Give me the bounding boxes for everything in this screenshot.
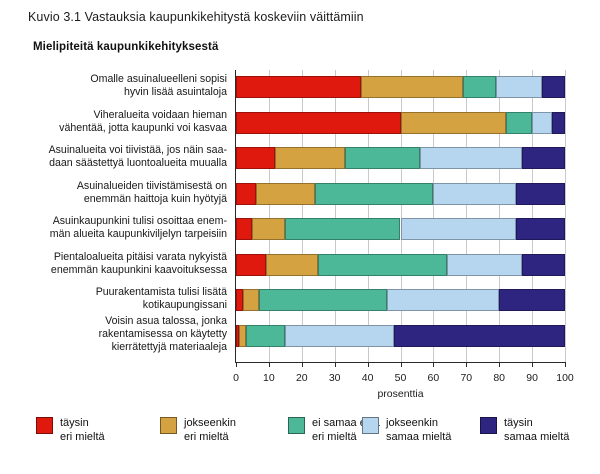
legend-label: täysin samaa mieltä — [504, 416, 569, 444]
bar-segment — [252, 218, 285, 240]
legend-item[interactable]: täysin eri mieltä — [36, 416, 105, 444]
category-label-line: Viheralueita voidaan hieman — [13, 109, 227, 122]
category-label-line: daan säästettyä luontoalueita muualla — [13, 157, 227, 170]
x-tick-label: 70 — [460, 372, 472, 384]
x-tick-label: 60 — [428, 372, 440, 384]
bar-segment — [433, 183, 515, 205]
category-label-line: Asuinalueiden tiivistämisestä on — [13, 180, 227, 193]
category-label-line: kierrätettyjä materiaaleja — [13, 341, 227, 354]
bar-segment — [401, 112, 506, 134]
x-tick-label: 30 — [329, 372, 341, 384]
bar-segment — [236, 183, 256, 205]
legend-swatch — [36, 417, 53, 434]
category-label: Asuinalueiden tiivistämisestä onenemmän … — [13, 180, 227, 206]
category-label-line: Asuinkaupunkini tulisi osoittaa enem- — [13, 215, 227, 228]
bar-segment — [256, 183, 315, 205]
legend-label: jokseenkin samaa mieltä — [386, 416, 451, 444]
category-label-line: män alueita kaupunkiviljelyn tarpeisiin — [13, 228, 227, 241]
bar-row — [236, 76, 565, 98]
legend-swatch — [480, 417, 497, 434]
bar-segment — [542, 76, 565, 98]
bar-segment — [345, 147, 421, 169]
bar-segment — [275, 147, 344, 169]
bar-segment — [394, 325, 565, 347]
bar-segment — [315, 183, 433, 205]
legend-swatch — [160, 417, 177, 434]
category-label-line: kotikaupungissani — [13, 299, 227, 312]
bar-segment — [401, 218, 516, 240]
category-label: Asuinkaupunkini tulisi osoittaa enem-män… — [13, 215, 227, 241]
category-label-line: vähentää, jotta kaupunki voi kasvaa — [13, 122, 227, 135]
x-tick-mark — [499, 362, 500, 367]
bar-segment — [361, 76, 463, 98]
legend-swatch — [362, 417, 379, 434]
legend-item[interactable]: jokseenkin eri mieltä — [160, 416, 236, 444]
bar-segment — [243, 289, 259, 311]
x-tick-mark — [565, 362, 566, 367]
category-label-line: Asuinalueita voi tiivistää, jos näin saa… — [13, 144, 227, 157]
category-label-line: hyvin lisää asuintaloja — [13, 86, 227, 99]
bar-row — [236, 218, 565, 240]
bar-segment — [387, 289, 499, 311]
bar-segment — [552, 112, 565, 134]
bar-segment — [246, 325, 285, 347]
category-label: Omalle asuinalueelleni sopisihyvin lisää… — [13, 73, 227, 99]
category-label-line: Voisin asua talossa, jonka — [13, 315, 227, 328]
bar-segment — [285, 218, 400, 240]
x-tick-mark — [532, 362, 533, 367]
chart-legend: täysin eri mieltäjokseenkin eri mieltäei… — [0, 408, 600, 468]
x-tick-label: 90 — [526, 372, 538, 384]
x-axis-title: prosenttia — [236, 388, 565, 400]
bar-segment — [506, 112, 532, 134]
plot-area: 0102030405060708090100 prosenttia — [236, 70, 565, 362]
category-label: Puurakentamista tulisi lisätäkotikaupung… — [13, 286, 227, 312]
bar-segment — [236, 112, 401, 134]
bar-segment — [239, 325, 246, 347]
legend-label: täysin eri mieltä — [60, 416, 105, 444]
legend-item[interactable]: täysin samaa mieltä — [480, 416, 569, 444]
bar-segment — [499, 289, 565, 311]
bar-row — [236, 325, 565, 347]
category-label: Pientaloalueita pitäisi varata nykyistäe… — [13, 251, 227, 277]
category-label: Voisin asua talossa, jonkarakentamisessa… — [13, 315, 227, 354]
bar-row — [236, 254, 565, 276]
x-tick-label: 100 — [556, 372, 574, 384]
category-label-line: rakentamisessa on käytetty — [13, 328, 227, 341]
x-tick-mark — [466, 362, 467, 367]
bar-segment — [236, 254, 266, 276]
bar-segment — [516, 183, 565, 205]
legend-swatch — [288, 417, 305, 434]
bar-segment — [318, 254, 446, 276]
bar-segment — [496, 76, 542, 98]
x-tick-label: 10 — [263, 372, 275, 384]
figure-container: Kuvio 3.1 Vastauksia kaupunkikehitystä k… — [0, 0, 600, 474]
x-tick-mark — [401, 362, 402, 367]
bar-segment — [447, 254, 523, 276]
bar-segment — [463, 76, 496, 98]
bar-segment — [285, 325, 394, 347]
bar-row — [236, 147, 565, 169]
legend-label: jokseenkin eri mieltä — [184, 416, 236, 444]
gridline — [565, 70, 566, 362]
category-label-line: enemmän haittoja kuin hyötyjä — [13, 193, 227, 206]
bar-segment — [236, 147, 275, 169]
x-tick-mark — [269, 362, 270, 367]
bar-segment — [522, 147, 565, 169]
figure-title: Kuvio 3.1 Vastauksia kaupunkikehitystä k… — [28, 10, 364, 24]
bar-row — [236, 112, 565, 134]
legend-item[interactable]: jokseenkin samaa mieltä — [362, 416, 451, 444]
x-tick-mark — [236, 362, 237, 367]
bar-segment — [236, 76, 361, 98]
x-tick-label: 0 — [233, 372, 239, 384]
bar-row — [236, 289, 565, 311]
bar-row — [236, 183, 565, 205]
x-tick-mark — [302, 362, 303, 367]
bar-segment — [522, 254, 565, 276]
category-label-line: Omalle asuinalueelleni sopisi — [13, 73, 227, 86]
x-tick-mark — [368, 362, 369, 367]
x-tick-mark — [433, 362, 434, 367]
x-tick-mark — [335, 362, 336, 367]
category-label-line: Pientaloalueita pitäisi varata nykyistä — [13, 251, 227, 264]
chart-subtitle: Mielipiteitä kaupunkikehityksestä — [33, 41, 218, 53]
category-label-line: Puurakentamista tulisi lisätä — [13, 286, 227, 299]
category-label-line: enemmän kaupunkini kaavoituksessa — [13, 264, 227, 277]
x-tick-label: 40 — [362, 372, 374, 384]
bar-segment — [420, 147, 522, 169]
bar-segment — [266, 254, 319, 276]
category-label: Asuinalueita voi tiivistää, jos näin saa… — [13, 144, 227, 170]
x-tick-label: 20 — [296, 372, 308, 384]
bar-segment — [516, 218, 565, 240]
bar-segment — [259, 289, 387, 311]
category-label: Viheralueita voidaan hiemanvähentää, jot… — [13, 109, 227, 135]
bar-segment — [236, 289, 243, 311]
x-tick-label: 50 — [395, 372, 407, 384]
x-tick-label: 80 — [493, 372, 505, 384]
bar-segment — [236, 218, 252, 240]
bar-segment — [532, 112, 552, 134]
